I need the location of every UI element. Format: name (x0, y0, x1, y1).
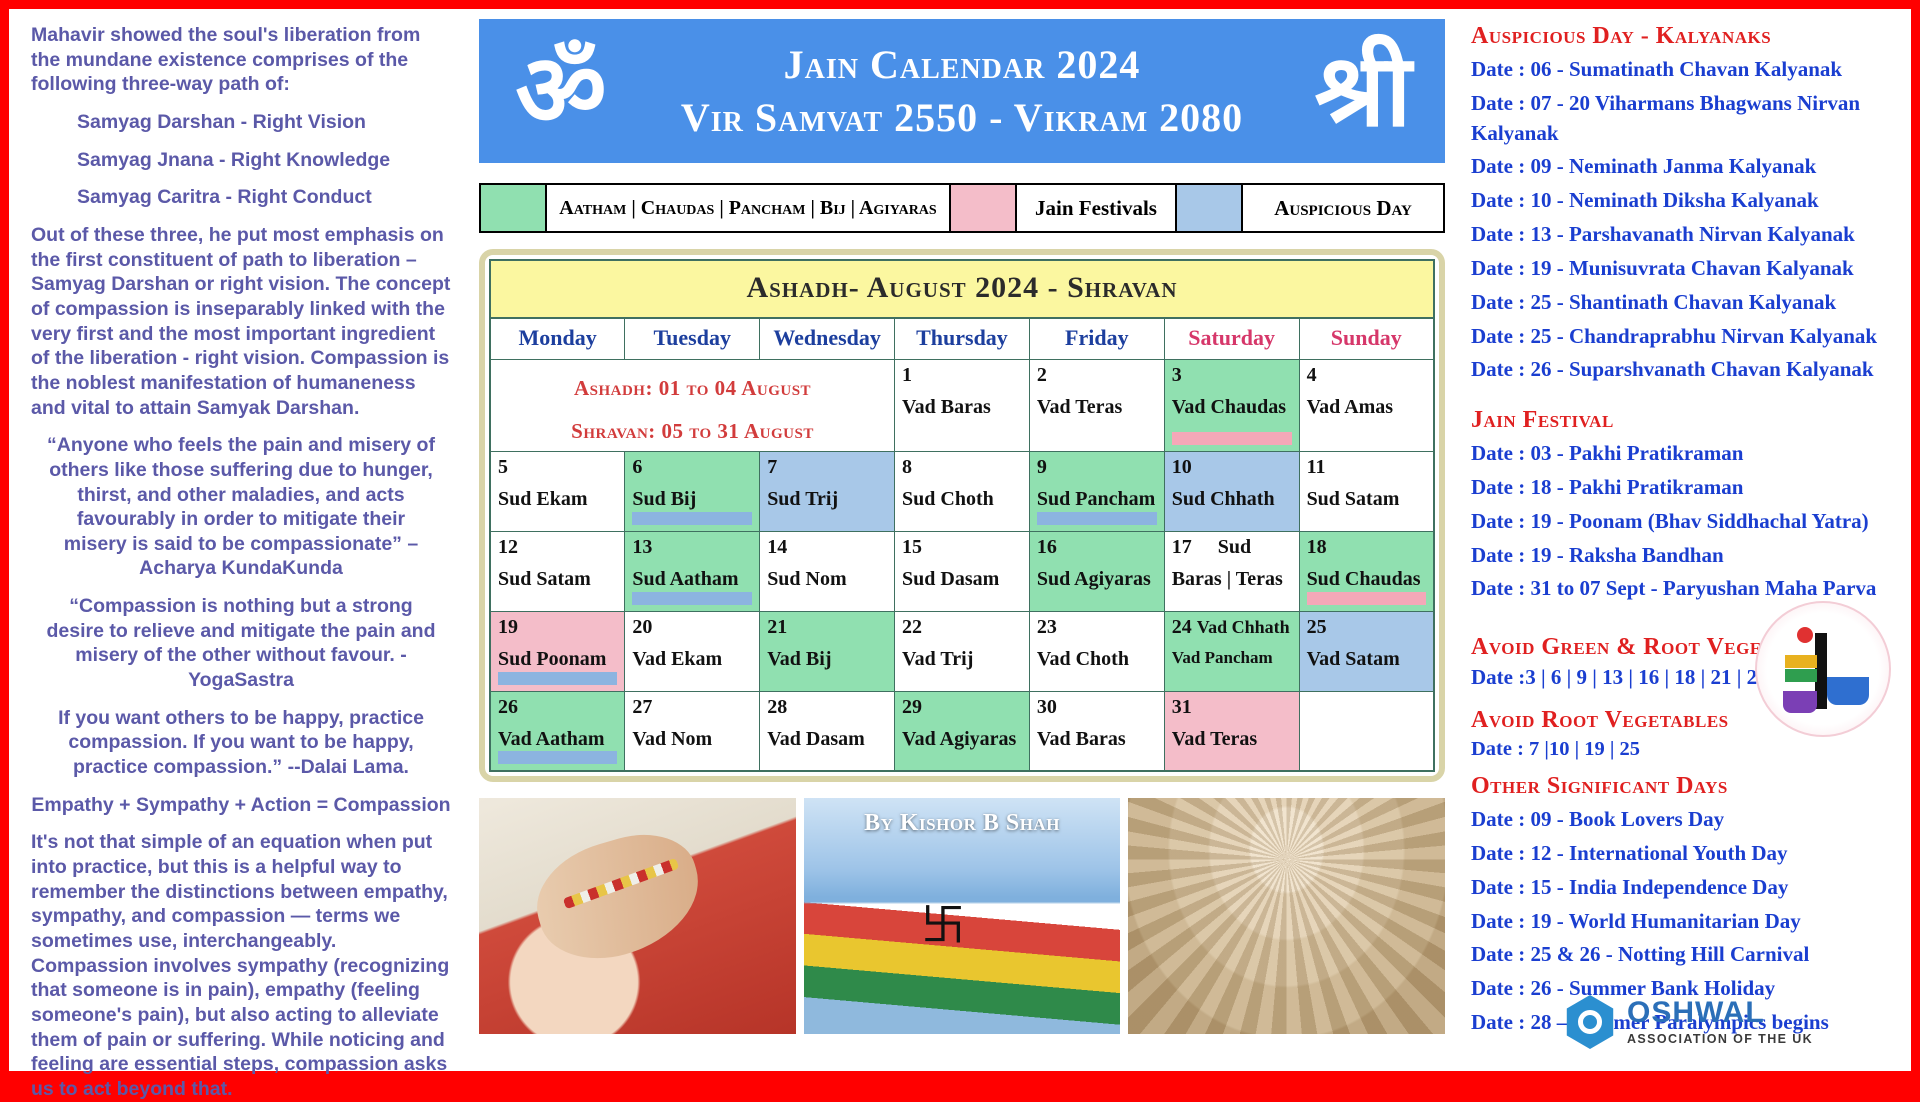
calendar-day-cell[interactable]: 22Vad Trij (895, 611, 1030, 691)
calendar-banner: ॐ Jain Calendar 2024 Vir Samvat 2550 - V… (479, 19, 1445, 163)
calendar-day-cell[interactable]: 7Sud Trij (760, 451, 895, 531)
calendar-day-cell[interactable]: 30Vad Baras (1029, 691, 1164, 771)
banner-title-line1: Jain Calendar 2024 (621, 41, 1303, 88)
calendar-day-cell[interactable]: 13Sud Aatham (625, 531, 760, 611)
heading-other-significant-days: Other Significant Days (1471, 773, 1895, 800)
kalyanak-item: Date : 25 - Shantinath Chavan Kalyanak (1471, 288, 1895, 318)
photo-credit: By Kishor B Shah (804, 810, 1121, 837)
festival-item: Date : 19 - Raksha Bandhan (1471, 541, 1895, 571)
kalyanak-item: Date : 26 - Suparshvanath Chavan Kalyana… (1471, 355, 1895, 385)
other-day-item: Date : 09 - Book Lovers Day (1471, 805, 1895, 835)
swastika-icon: 卐 (921, 889, 965, 953)
festival-item: Date : 19 - Poonam (Bhav Siddhachal Yatr… (1471, 507, 1895, 537)
calendar-day-cell[interactable]: 9Sud Pancham (1029, 451, 1164, 531)
calendar-day-cell[interactable]: 8Sud Choth (895, 451, 1030, 531)
heading-jain-festival: Jain Festival (1471, 407, 1895, 434)
calendar-day-cell[interactable]: 23Vad Choth (1029, 611, 1164, 691)
jain-emblem-icon (1755, 601, 1891, 737)
festival-item: Date : 31 to 07 Sept - Paryushan Maha Pa… (1471, 574, 1895, 604)
festival-list: Date : 03 - Pakhi PratikramanDate : 18 -… (1471, 439, 1895, 604)
calendar-week-row: 26Vad Aatham27Vad Nom28Vad Dasam29Vad Ag… (490, 691, 1434, 771)
calendar-day-cell[interactable]: 12Sud Satam (490, 531, 625, 611)
calendar-day-cell[interactable]: 11Sud Satam (1299, 451, 1434, 531)
kalyanak-item: Date : 25 - Chandraprabhu Nirvan Kalyana… (1471, 322, 1895, 352)
oshwal-logo-subtitle: ASSOCIATION OF THE UK (1627, 1032, 1813, 1046)
calendar-week-row: 5Sud Ekam6Sud Bij7Sud Trij8Sud Choth9Sud… (490, 451, 1434, 531)
jain-om-glyph-icon: ॐ (501, 41, 621, 141)
kalyanak-item: Date : 09 - Neminath Janma Kalyanak (1471, 152, 1895, 182)
calendar-table: Ashadh- August 2024 - Shravan Monday Tue… (489, 259, 1435, 772)
dow-monday: Monday (490, 318, 625, 360)
shree-glyph-icon: श्री (1303, 41, 1423, 141)
dow-friday: Friday (1029, 318, 1164, 360)
calendar-day-cell[interactable]: 2Vad Teras (1029, 360, 1164, 452)
kalyanak-item: Date : 07 - 20 Viharmans Bhagwans Nirvan… (1471, 89, 1895, 149)
left-article-column: Mahavir showed the soul's liberation fro… (9, 9, 471, 1071)
other-day-item: Date : 25 & 26 - Notting Hill Carnival (1471, 940, 1895, 970)
path-item-3: Samyag Caritra - Right Conduct (31, 185, 451, 210)
other-day-item: Date : 19 - World Humanitarian Day (1471, 907, 1895, 937)
calendar-week-row: 12Sud Satam13Sud Aatham14Sud Nom15Sud Da… (490, 531, 1434, 611)
day-marker-stripe (632, 592, 752, 605)
kalyanak-item: Date : 13 - Parshavanath Nirvan Kalyanak (1471, 220, 1895, 250)
quote-dalai-lama: If you want others to be happy, practice… (31, 706, 451, 780)
calendar-day-cell[interactable]: 29Vad Agiyaras (895, 691, 1030, 771)
calendar-empty-cell (1299, 691, 1434, 771)
photo-strip: 卐 By Kishor B Shah (479, 798, 1445, 1034)
calendar-frame: Ashadh- August 2024 - Shravan Monday Tue… (479, 249, 1445, 782)
center-calendar-column: ॐ Jain Calendar 2024 Vir Samvat 2550 - V… (471, 9, 1453, 1071)
calendar-day-cell[interactable]: 20Vad Ekam (625, 611, 760, 691)
oshwal-logo: OSHWAL ASSOCIATION OF THE UK (1563, 995, 1813, 1049)
legend-swatch-green (481, 185, 547, 231)
calendar-day-cell[interactable]: 17SudBaras | Teras (1164, 531, 1299, 611)
calendar-day-cell[interactable]: 4Vad Amas (1299, 360, 1434, 452)
heading-kalyanaks: Auspicious Day - Kalyanaks (1471, 23, 1895, 50)
calendar-day-cell[interactable]: 27Vad Nom (625, 691, 760, 771)
calendar-page: Mahavir showed the soul's liberation fro… (9, 9, 1911, 1071)
calendar-day-cell[interactable]: 3Vad Chaudas (1164, 360, 1299, 452)
path-item-2: Samyag Jnana - Right Knowledge (31, 148, 451, 173)
calendar-day-cell[interactable]: 31Vad Teras (1164, 691, 1299, 771)
dow-tuesday: Tuesday (625, 318, 760, 360)
day-marker-stripe (498, 672, 617, 685)
calendar-month-title: Ashadh- August 2024 - Shravan (490, 260, 1434, 318)
calendar-week-row: Ashadh: 01 to 04 AugustShravan: 05 to 31… (490, 360, 1434, 452)
kalyanak-list: Date : 06 - Sumatinath Chavan KalyanakDa… (1471, 55, 1895, 385)
day-marker-stripe (632, 512, 752, 525)
photo-rakhi (479, 798, 796, 1034)
calendar-day-cell[interactable]: 25Vad Satam (1299, 611, 1434, 691)
legend-swatch-pink (951, 185, 1017, 231)
festival-item: Date : 18 - Pakhi Pratikraman (1471, 473, 1895, 503)
calendar-day-cell[interactable]: 5Sud Ekam (490, 451, 625, 531)
legend-bar: Aatham | Chaudas | Pancham | Bij | Agiya… (479, 183, 1445, 233)
banner-title-block: Jain Calendar 2024 Vir Samvat 2550 - Vik… (621, 41, 1303, 141)
quote-kundakunda: “Anyone who feels the pain and misery of… (31, 433, 451, 581)
left-paragraph-1: Mahavir showed the soul's liberation fro… (31, 23, 451, 97)
kalyanak-item: Date : 06 - Sumatinath Chavan Kalyanak (1471, 55, 1895, 85)
calendar-dow-row: Monday Tuesday Wednesday Thursday Friday… (490, 318, 1434, 360)
calendar-day-cell[interactable]: 6Sud Bij (625, 451, 760, 531)
compassion-equation: Empathy + Sympathy + Action = Compassion (31, 793, 451, 818)
calendar-day-cell[interactable]: 19Sud Poonam (490, 611, 625, 691)
calendar-day-cell[interactable]: 18Sud Chaudas (1299, 531, 1434, 611)
kalyanak-item: Date : 19 - Munisuvrata Chavan Kalyanak (1471, 254, 1895, 284)
festival-item: Date : 03 - Pakhi Pratikraman (1471, 439, 1895, 469)
dow-sunday: Sunday (1299, 318, 1434, 360)
calendar-day-cell[interactable]: 15Sud Dasam (895, 531, 1030, 611)
day-marker-stripe (498, 751, 617, 764)
left-paragraph-2: Out of these three, he put most emphasis… (31, 223, 451, 420)
calendar-day-cell[interactable]: 28Vad Dasam (760, 691, 895, 771)
legend-label-festivals: Jain Festivals (1017, 185, 1177, 231)
calendar-day-cell[interactable]: 16Sud Agiyaras (1029, 531, 1164, 611)
photo-temple-ceiling (1128, 798, 1445, 1034)
dow-thursday: Thursday (895, 318, 1030, 360)
dow-saturday: Saturday (1164, 318, 1299, 360)
legend-swatch-blue (1177, 185, 1243, 231)
kalyanak-item: Date : 10 - Neminath Diksha Kalyanak (1471, 186, 1895, 216)
banner-title-line2: Vir Samvat 2550 - Vikram 2080 (621, 94, 1303, 141)
other-day-item: Date : 15 - India Independence Day (1471, 873, 1895, 903)
calendar-day-cell[interactable]: 14Sud Nom (760, 531, 895, 611)
other-day-item: Date : 12 - International Youth Day (1471, 839, 1895, 869)
day-marker-stripe (1172, 432, 1292, 445)
calendar-day-cell[interactable]: 21Vad Bij (760, 611, 895, 691)
quote-yogasastra: “Compassion is nothing but a strong desi… (31, 594, 451, 693)
dow-wednesday: Wednesday (760, 318, 895, 360)
right-events-column: Auspicious Day - Kalyanaks Date : 06 - S… (1453, 9, 1911, 1071)
day-marker-stripe (1307, 592, 1426, 605)
calendar-day-cell[interactable]: 1Vad Baras (895, 360, 1030, 452)
photo-jain-flag: 卐 By Kishor B Shah (804, 798, 1121, 1034)
calendar-week-row: 19Sud Poonam20Vad Ekam21Vad Bij22Vad Tri… (490, 611, 1434, 691)
avoid-root-dates: Date : 7 |10 | 19 | 25 (1471, 736, 1895, 762)
legend-label-tithis: Aatham | Chaudas | Pancham | Bij | Agiya… (547, 185, 951, 231)
day-marker-stripe (1037, 512, 1157, 525)
calendar-body: Ashadh: 01 to 04 AugustShravan: 05 to 31… (490, 360, 1434, 772)
calendar-day-cell[interactable]: 26Vad Aatham (490, 691, 625, 771)
calendar-day-cell[interactable]: 10Sud Chhath (1164, 451, 1299, 531)
calendar-month-range-note: Ashadh: 01 to 04 AugustShravan: 05 to 31… (490, 360, 895, 452)
oshwal-logo-name: OSHWAL (1627, 998, 1813, 1028)
legend-label-auspicious: Auspicious Day (1243, 185, 1443, 231)
path-item-1: Samyag Darshan - Right Vision (31, 110, 451, 135)
left-paragraph-3: It's not that simple of an equation when… (31, 830, 451, 1101)
calendar-day-cell[interactable]: 24 Vad ChhathVad Pancham (1164, 611, 1299, 691)
oshwal-hex-icon (1563, 995, 1617, 1049)
